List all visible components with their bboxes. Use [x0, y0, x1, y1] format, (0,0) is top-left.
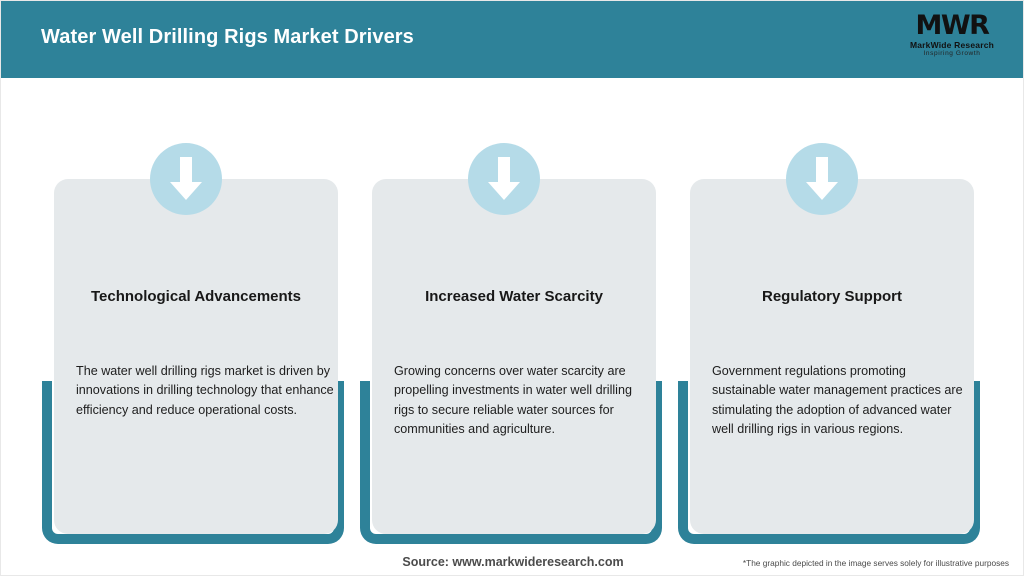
- driver-card-list: Technological Advancements The water wel…: [1, 1, 1024, 576]
- card-title: Technological Advancements: [68, 287, 324, 306]
- card-panel: Technological Advancements The water wel…: [54, 179, 338, 534]
- arrow-down-icon: [468, 143, 540, 215]
- card-body-text: Government regulations promoting sustain…: [712, 362, 970, 439]
- card-panel: Regulatory Support Government regulation…: [690, 179, 974, 534]
- driver-card-1: Technological Advancements The water wel…: [42, 143, 361, 545]
- driver-card-3: Regulatory Support Government regulation…: [678, 143, 997, 545]
- card-title: Regulatory Support: [704, 287, 960, 306]
- card-panel: Increased Water Scarcity Growing concern…: [372, 179, 656, 534]
- card-title: Increased Water Scarcity: [386, 287, 642, 306]
- card-body-text: The water well drilling rigs market is d…: [76, 362, 334, 420]
- driver-card-2: Increased Water Scarcity Growing concern…: [360, 143, 679, 545]
- slide-canvas: Water Well Drilling Rigs Market Drivers …: [0, 0, 1024, 576]
- disclaimer-note: *The graphic depicted in the image serve…: [743, 558, 1009, 568]
- arrow-down-icon: [786, 143, 858, 215]
- card-body-text: Growing concerns over water scarcity are…: [394, 362, 652, 439]
- arrow-down-icon: [150, 143, 222, 215]
